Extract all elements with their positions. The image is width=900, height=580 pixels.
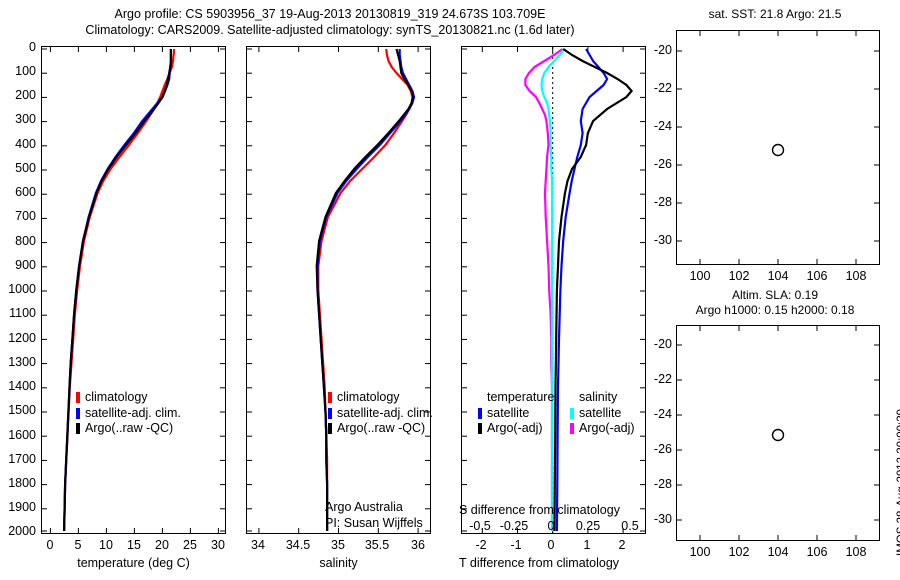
ytick-200: 200 — [0, 88, 36, 102]
sst-ytick--26: -26 — [640, 157, 672, 171]
sla-xtick-104: 104 — [763, 545, 793, 559]
temperature-curves — [42, 47, 225, 533]
argo-position-marker-sla — [773, 430, 784, 441]
ytick-600: 600 — [0, 185, 36, 199]
xtick-d-0: 0 — [540, 538, 562, 552]
sst-ytick--30: -30 — [640, 233, 672, 247]
sla-xtick-100: 100 — [685, 545, 715, 559]
legend-label-s-argo: Argo(-adj) — [579, 421, 635, 437]
legend-item-satellite-adj-s: satellite-adj. clim. — [328, 406, 433, 422]
xtick-s-34p5: 34.5 — [279, 538, 317, 552]
salinity-profile-plot[interactable] — [246, 46, 431, 534]
sla-title-line-2: Argo h1000: 0.15 h2000: 0.18 — [660, 303, 890, 318]
legend-item-climatology: climatology — [76, 390, 181, 406]
credit-block: Argo Australia PI: Susan Wijffels — [325, 500, 423, 531]
legend-swatch-climatology — [76, 392, 80, 403]
difference-s-axis-title: S difference from climatology — [459, 503, 649, 517]
ytick-1700: 1700 — [0, 452, 36, 466]
xtick-s-0: 0 — [540, 519, 562, 533]
temperature-legend: climatology satellite-adj. clim. Argo(..… — [76, 390, 181, 437]
temperature-x-axis-title: temperature (deg C) — [41, 556, 226, 570]
xtick-d-m2: -2 — [469, 538, 493, 552]
legend-swatch-argo-s — [328, 423, 332, 434]
legend-header-temperature: temperature — [478, 390, 554, 406]
sst-xtick-108: 108 — [841, 269, 871, 283]
ytick-1500: 1500 — [0, 403, 36, 417]
difference-legend-salinity: salinity satellite Argo(-adj) — [570, 390, 635, 437]
sla-xtick-102: 102 — [724, 545, 754, 559]
legend-label-argo: Argo(..raw -QC) — [85, 421, 173, 437]
sst-ytick--20: -20 — [640, 43, 672, 57]
ytick-700: 700 — [0, 209, 36, 223]
ytick-300: 300 — [0, 112, 36, 126]
legend-item-climatology-s: climatology — [328, 390, 433, 406]
credit-pi: PI: Susan Wijffels — [325, 516, 423, 532]
xtick-t-10: 10 — [93, 538, 119, 552]
ytick-400: 400 — [0, 137, 36, 151]
xtick-s-m0p25: -0.25 — [489, 519, 539, 533]
xtick-t-5: 5 — [69, 538, 87, 552]
legend-label-argo-s: Argo(..raw -QC) — [337, 421, 425, 437]
sla-ytick--24: -24 — [640, 407, 672, 421]
ytick-1100: 1100 — [0, 306, 36, 320]
sst-ytick--24: -24 — [640, 119, 672, 133]
xtick-s-0p25: 0.25 — [563, 519, 613, 533]
ytick-1800: 1800 — [0, 476, 36, 490]
legend-item-t-satellite: satellite — [478, 406, 554, 422]
sst-ytick--28: -28 — [640, 195, 672, 209]
difference-profile-plot[interactable] — [461, 46, 646, 534]
difference-curves — [462, 47, 645, 533]
legend-header-salinity-label: salinity — [579, 390, 617, 406]
sst-xtick-104: 104 — [763, 269, 793, 283]
sst-map[interactable] — [676, 30, 880, 265]
ytick-1600: 1600 — [0, 428, 36, 442]
legend-swatch-satellite-adj — [76, 408, 80, 419]
legend-swatch-satellite-adj-s — [328, 408, 332, 419]
legend-header-salinity: salinity — [570, 390, 635, 406]
legend-item-t-argo: Argo(-adj) — [478, 421, 554, 437]
salinity-x-axis-title: salinity — [246, 556, 431, 570]
sla-map[interactable] — [676, 325, 880, 541]
ytick-1200: 1200 — [0, 331, 36, 345]
sla-ytick--26: -26 — [640, 442, 672, 456]
sst-ytick--22: -22 — [640, 81, 672, 95]
ytick-0: 0 — [0, 40, 36, 54]
ytick-2000: 2000 — [0, 524, 36, 538]
ytick-500: 500 — [0, 161, 36, 175]
argo-position-marker — [773, 145, 784, 156]
difference-legend-temperature: temperature satellite Argo(-adj) — [478, 390, 554, 437]
ytick-1400: 1400 — [0, 379, 36, 393]
difference-t-axis-title: T difference from climatology — [459, 556, 659, 570]
ytick-900: 900 — [0, 258, 36, 272]
ytick-1000: 1000 — [0, 282, 36, 296]
legend-label-t-argo: Argo(-adj) — [487, 421, 543, 437]
sla-map-overlay — [677, 326, 879, 540]
legend-label-climatology: climatology — [85, 390, 148, 406]
xtick-t-25: 25 — [177, 538, 203, 552]
legend-item-satellite-adj: satellite-adj. clim. — [76, 406, 181, 422]
legend-label-climatology-s: climatology — [337, 390, 400, 406]
legend-label-s-satellite: satellite — [579, 406, 621, 422]
legend-label-t-satellite: satellite — [487, 406, 529, 422]
sla-ytick--28: -28 — [640, 477, 672, 491]
salinity-curves — [247, 47, 430, 533]
sla-ytick--20: -20 — [640, 337, 672, 351]
salinity-legend: climatology satellite-adj. clim. Argo(..… — [328, 390, 433, 437]
legend-swatch-climatology-s — [328, 392, 332, 403]
xtick-s-35: 35 — [325, 538, 351, 552]
xtick-t-15: 15 — [121, 538, 147, 552]
ytick-1300: 1300 — [0, 355, 36, 369]
legend-label-satellite-adj-s: satellite-adj. clim. — [337, 406, 433, 422]
legend-swatch-t-argo — [478, 423, 482, 434]
legend-swatch-s-argo — [570, 423, 574, 434]
legend-item-s-satellite: satellite — [570, 406, 635, 422]
sla-xtick-106: 106 — [802, 545, 832, 559]
xtick-d-m1: -1 — [504, 538, 528, 552]
xtick-d-1: 1 — [576, 538, 598, 552]
imos-timestamp: IMOS 28-Aug-2013 20:00:29 — [896, 409, 900, 556]
sla-ytick--22: -22 — [640, 372, 672, 386]
sst-xtick-102: 102 — [724, 269, 754, 283]
title-line-1: Argo profile: CS 5903956_37 19-Aug-2013 … — [0, 7, 660, 23]
legend-item-argo: Argo(..raw -QC) — [76, 421, 181, 437]
sst-map-overlay — [677, 31, 879, 264]
page-title: Argo profile: CS 5903956_37 19-Aug-2013 … — [0, 7, 660, 38]
sst-xtick-100: 100 — [685, 269, 715, 283]
xtick-s-34: 34 — [245, 538, 271, 552]
temperature-profile-plot[interactable] — [41, 46, 226, 534]
legend-item-s-argo: Argo(-adj) — [570, 421, 635, 437]
credit-org: Argo Australia — [325, 500, 423, 516]
ytick-800: 800 — [0, 234, 36, 248]
xtick-t-30: 30 — [205, 538, 231, 552]
sst-map-title: sat. SST: 21.8 Argo: 21.5 — [660, 7, 890, 22]
ytick-1900: 1900 — [0, 500, 36, 514]
sla-map-title: Altim. SLA: 0.19 Argo h1000: 0.15 h2000:… — [660, 288, 890, 318]
legend-swatch-argo — [76, 423, 80, 434]
title-line-2: Climatology: CARS2009. Satellite-adjuste… — [0, 23, 660, 39]
xtick-s-35p5: 35.5 — [358, 538, 396, 552]
sla-title-line-1: Altim. SLA: 0.19 — [660, 288, 890, 303]
sst-xtick-106: 106 — [802, 269, 832, 283]
legend-swatch-s-satellite — [570, 408, 574, 419]
sla-xtick-108: 108 — [841, 545, 871, 559]
ytick-100: 100 — [0, 64, 36, 78]
xtick-d-2: 2 — [611, 538, 633, 552]
legend-label-satellite-adj: satellite-adj. clim. — [85, 406, 181, 422]
xtick-s-36: 36 — [405, 538, 431, 552]
legend-swatch-t-satellite — [478, 408, 482, 419]
legend-item-argo-s: Argo(..raw -QC) — [328, 421, 433, 437]
sla-ytick--30: -30 — [640, 512, 672, 526]
xtick-t-20: 20 — [149, 538, 175, 552]
xtick-t-0: 0 — [41, 538, 59, 552]
legend-header-temperature-label: temperature — [487, 390, 554, 406]
